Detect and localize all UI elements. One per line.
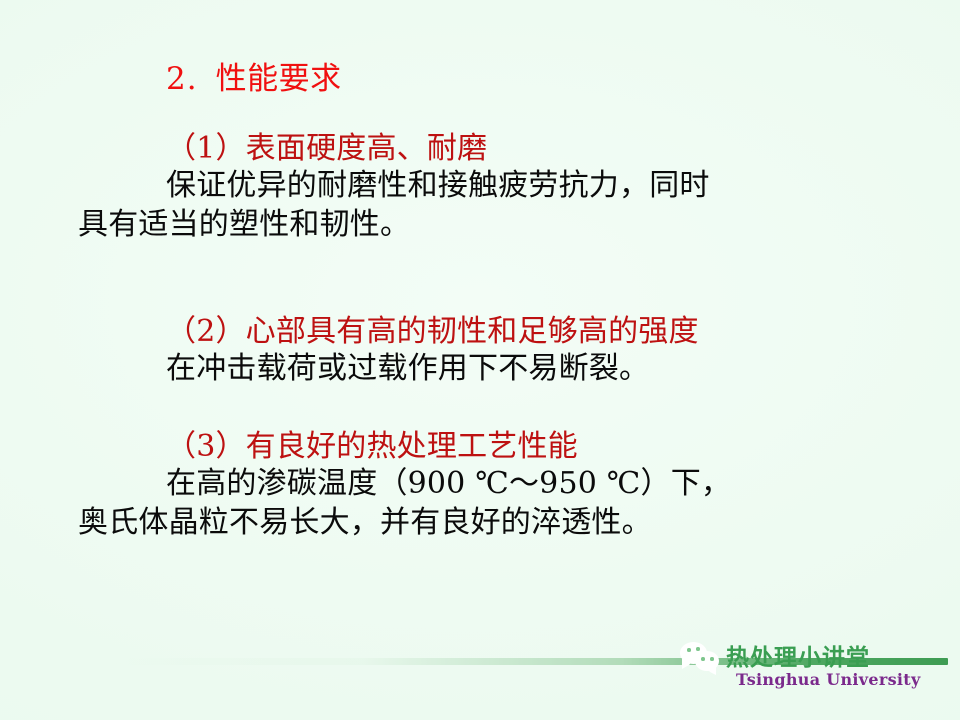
wechat-bubble-small [695,651,719,671]
wechat-eye-3 [701,657,705,661]
brand-block: 热处理小讲堂 Tsinghua University [674,634,914,704]
section-1-body-line-1: 保证优异的耐磨性和接触疲劳抗力，同时 [78,166,898,205]
section-3: （3）有良好的热处理工艺性能 在高的渗碳温度（900 ℃～950 ℃）下， 奥氏… [78,430,898,542]
section-1: （1）表面硬度高、耐磨 保证优异的耐磨性和接触疲劳抗力，同时 具有适当的塑性和韧… [78,132,898,244]
section-1-label: （1）表面硬度高、耐磨 [78,132,898,166]
wechat-icon [680,642,724,672]
wechat-eye-1 [687,648,691,652]
section-2: （2）心部具有高的韧性和足够高的强度 在冲击载荷或过载作用下不易断裂。 [78,315,898,388]
slide-footer: 热处理小讲堂 Tsinghua University [0,634,960,720]
section-3-body-line-1: 在高的渗碳温度（900 ℃～950 ℃）下， [78,464,898,503]
page-title-text: 性能要求 [216,61,342,97]
section-2-body-line-1: 在冲击载荷或过载作用下不易断裂。 [78,349,898,388]
brand-name-en: Tsinghua University [736,670,921,689]
wechat-eye-2 [696,647,700,651]
section-1-body-line-2: 具有适当的塑性和韧性。 [78,205,898,244]
brand-name-cn: 热处理小讲堂 [726,638,870,672]
wechat-eye-4 [710,657,714,661]
section-3-body-line-2: 奥氏体晶粒不易长大，并有良好的淬透性。 [78,503,898,542]
page-title: 2.性能要求 [166,64,342,95]
section-2-label: （2）心部具有高的韧性和足够高的强度 [78,315,898,349]
page-title-number: 2. [166,61,198,97]
slide-canvas: 2.性能要求 （1）表面硬度高、耐磨 保证优异的耐磨性和接触疲劳抗力，同时 具有… [0,0,960,720]
section-3-label: （3）有良好的热处理工艺性能 [78,430,898,464]
